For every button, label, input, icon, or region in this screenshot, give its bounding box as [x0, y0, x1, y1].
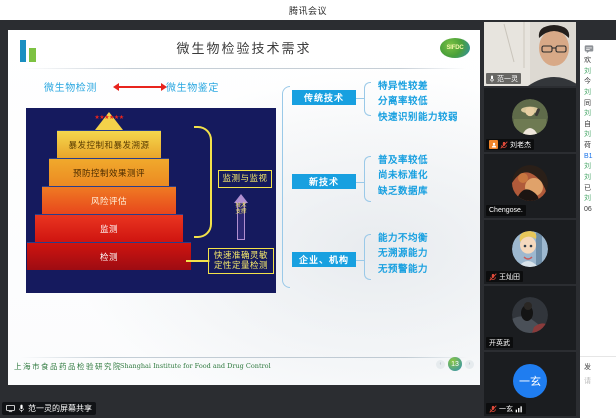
screen-share-bar: 范一灵的屏幕共享 — [0, 396, 480, 418]
group-chip-label: 新技术 — [292, 174, 356, 189]
participant-name: 刘老杰 — [510, 140, 531, 150]
chat-line: 欢 — [584, 56, 616, 67]
participant-tile[interactable]: 开英武 — [484, 286, 576, 350]
sifdc-logo-icon: SIFDC — [440, 38, 470, 58]
avatar — [512, 165, 548, 201]
group-brace — [364, 234, 371, 280]
mic-off-icon — [500, 141, 508, 149]
pyramid-layer: 预防控制效果测评 — [49, 158, 169, 186]
support-arrow-icon: 技术支撑 — [234, 194, 248, 240]
group-bullet: 快速识别能力较弱 — [378, 110, 458, 125]
participant-name: 开英武 — [489, 338, 510, 348]
group-bullets: 普及率较低 尚未标准化 缺乏数据库 — [378, 153, 428, 199]
footer-org-cn: 上海市食品药品检验研究院 — [14, 361, 122, 372]
chat-line: 刘 — [584, 162, 616, 173]
slide-pager: ‹ 13 › — [436, 357, 474, 371]
group-bullets: 能力不均衡 无溯源能力 无预警能力 — [378, 231, 428, 277]
chat-send-button[interactable]: 发 — [584, 362, 591, 372]
slide-footer: 上海市食品药品检验研究院 Shanghai Institute for Food… — [8, 355, 480, 385]
participant-name: 范一灵 — [497, 74, 518, 84]
signal-bars-icon — [515, 405, 523, 413]
pyramid-stars: ★★★★★★ — [94, 114, 123, 121]
sifdc-logo-text: SIFDC — [446, 45, 463, 51]
chat-input[interactable]: 请 — [584, 376, 591, 386]
chat-line: 刘 — [584, 67, 616, 78]
chat-line: 已 — [584, 184, 616, 195]
chat-panel[interactable]: 欢 刘 今 刘 同 刘 自 刘 荷 B1 刘 刘 已 刘 06 发 请 — [580, 40, 616, 418]
participant-tile[interactable]: 刘老杰 — [484, 88, 576, 152]
chat-line: 刘 — [584, 194, 616, 205]
chat-line[interactable]: B1 — [584, 152, 616, 163]
slide-title-row: 微生物检验技术需求 SIFDC — [8, 36, 480, 70]
participant-name-bar: 开英武 — [486, 337, 513, 348]
group-connector — [356, 98, 364, 99]
pyramid-base-connector — [186, 260, 210, 262]
mic-icon — [18, 404, 25, 413]
participant-name: 一玄 — [499, 404, 513, 414]
group-chip-label: 传统技术 — [292, 90, 356, 105]
detection-callout-box: 快速准确灵敏 定性定量检测 — [208, 248, 274, 274]
double-arrow-icon — [118, 86, 162, 88]
participant-tile[interactable]: 范一灵 — [484, 22, 576, 86]
group-bullets: 特异性较差 分离率较低 快速识别能力较弱 — [378, 79, 458, 125]
group-bullet: 尚未标准化 — [378, 168, 428, 183]
chat-line: 刘 — [584, 173, 616, 184]
group-connector — [356, 260, 364, 261]
participant-tile[interactable]: 王灿田 — [484, 220, 576, 284]
group-bullet: 普及率较低 — [378, 153, 428, 168]
participant-tile[interactable]: 一玄 一玄 — [484, 352, 576, 416]
pyramid-brace — [194, 126, 212, 238]
chat-line: 刘 — [584, 109, 616, 120]
avatar-initials: 一玄 — [519, 373, 541, 389]
presentation-slide: 微生物检验技术需求 SIFDC 微生物检测 微生物鉴定 ★★★★★★ — [8, 30, 480, 385]
concept-row: 微生物检测 微生物鉴定 — [44, 76, 244, 98]
screen-share-label: 范一灵的屏幕共享 — [28, 403, 92, 414]
host-badge-icon — [489, 140, 498, 149]
chat-line: 今 — [584, 77, 616, 88]
participant-name-bar: 王灿田 — [486, 271, 523, 282]
avatar — [512, 99, 548, 135]
group-connector — [356, 182, 364, 183]
detection-callout-line2: 定性定量检测 — [214, 261, 268, 271]
participant-name-bar: 一玄 — [486, 403, 526, 414]
chat-divider — [580, 356, 616, 357]
chat-line: 刘 — [584, 88, 616, 99]
chat-line: 06 — [584, 205, 616, 216]
pyramid-layer: 暴发控制和暴发溯源 — [57, 130, 161, 158]
shared-screen-viewport[interactable]: 微生物检验技术需求 SIFDC 微生物检测 微生物鉴定 ★★★★★★ — [8, 30, 480, 385]
monitoring-callout-box: 监测与监视 — [218, 170, 272, 188]
pyramid: ★★★★★★ 暴发控制和暴发溯源 预防控制效果测评 风险评估 监测 检测 — [34, 112, 184, 290]
group-bullet: 特异性较差 — [378, 79, 458, 94]
chevron-right-icon[interactable]: › — [465, 360, 474, 369]
technology-gap-groups: 传统技术 特异性较差 分离率较低 快速识别能力较弱 新技术 — [282, 82, 470, 294]
support-arrow-label: 技术支撑 — [235, 204, 247, 215]
screen-share-indicator[interactable]: 范一灵的屏幕共享 — [2, 402, 96, 415]
footer-divider — [20, 357, 468, 358]
monitor-icon — [6, 404, 15, 413]
pyramid-diagram-panel: ★★★★★★ 暴发控制和暴发溯源 预防控制效果测评 风险评估 监测 检测 监测与… — [26, 108, 276, 293]
concept-right-label: 微生物鉴定 — [166, 79, 219, 94]
group-brace — [364, 156, 371, 202]
group-bullet: 能力不均衡 — [378, 231, 428, 246]
chat-line: 同 — [584, 99, 616, 110]
group-bullet: 无预警能力 — [378, 262, 428, 277]
footer-org-en: Shanghai Institute for Food and Drug Con… — [120, 362, 271, 370]
meeting-stage: 微生物检验技术需求 SIFDC 微生物检测 微生物鉴定 ★★★★★★ — [0, 20, 616, 418]
chat-line: 荷 — [584, 141, 616, 152]
pyramid-layer: 检测 — [27, 242, 191, 270]
chat-line: 刘 — [584, 130, 616, 141]
meeting-app-window: 腾讯会议 微生物检验技术需求 SIFDC 微生物检测 — [0, 0, 616, 418]
pyramid-layer: 监测 — [35, 214, 183, 242]
participant-name-bar: 刘老杰 — [486, 139, 534, 150]
chevron-left-icon[interactable]: ‹ — [436, 360, 445, 369]
chat-bubble-icon — [584, 44, 594, 54]
monitoring-callout-label: 监测与监视 — [222, 174, 267, 184]
slide-title: 微生物检验技术需求 — [8, 38, 480, 57]
participant-tile[interactable]: Chengose. — [484, 154, 576, 218]
concept-left-label: 微生物检测 — [44, 79, 97, 94]
pyramid-layer: 风险评估 — [42, 186, 176, 214]
mic-off-icon — [489, 273, 497, 281]
participant-name: Chengose. — [489, 207, 523, 214]
chat-line: 自 — [584, 120, 616, 131]
avatar — [512, 297, 548, 333]
group-bullet: 缺乏数据库 — [378, 184, 428, 199]
avatar: 一玄 — [513, 364, 547, 398]
mic-on-icon — [489, 75, 495, 83]
group-bullet: 无溯源能力 — [378, 246, 428, 261]
window-title: 腾讯会议 — [289, 4, 327, 17]
avatar — [512, 231, 548, 267]
group-chip-label: 企业、机构 — [292, 252, 356, 267]
groups-outer-brace — [282, 86, 290, 288]
slide-title-divider — [22, 68, 466, 69]
group-brace — [364, 82, 371, 116]
chat-header — [580, 42, 616, 56]
chat-message-list[interactable]: 欢 刘 今 刘 同 刘 自 刘 荷 B1 刘 刘 已 刘 06 — [584, 56, 616, 215]
slide-page-number: 13 — [448, 357, 462, 371]
participants-rail[interactable]: 范一灵 — [484, 22, 576, 416]
window-title-bar: 腾讯会议 — [0, 0, 616, 20]
participant-name-bar: 范一灵 — [486, 73, 521, 84]
participant-name-bar: Chengose. — [486, 205, 526, 216]
participant-name: 王灿田 — [499, 272, 520, 282]
group-bullet: 分离率较低 — [378, 94, 458, 109]
mic-off-icon — [489, 405, 497, 413]
